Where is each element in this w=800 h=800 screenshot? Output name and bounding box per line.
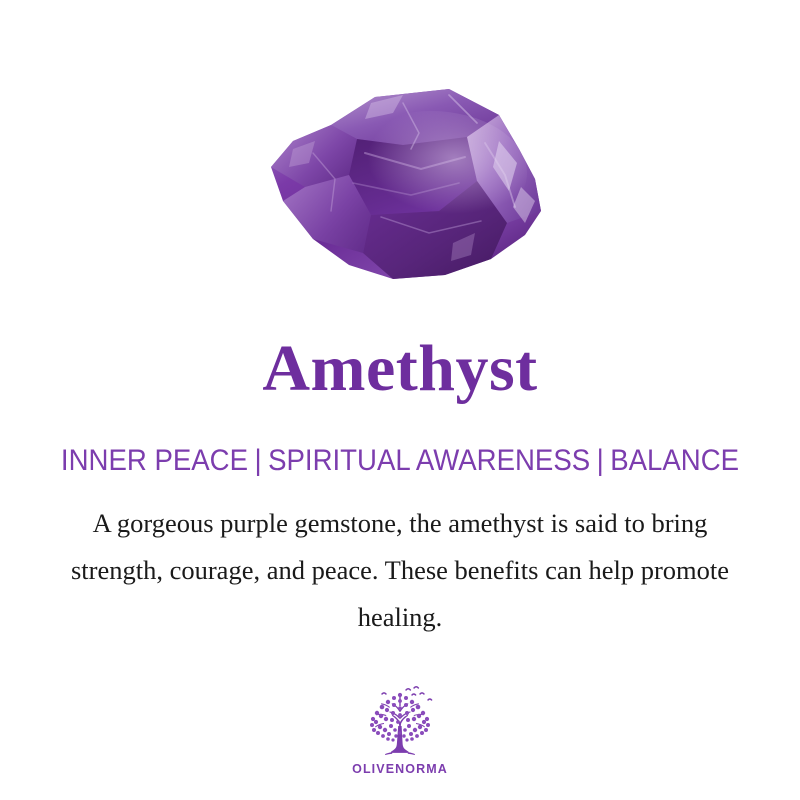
keyword-spiritual-awareness: SPIRITUAL AWARENESS xyxy=(268,442,590,480)
keyword-row: INNER PEACE|SPIRITUAL AWARENESS|BALANCE xyxy=(32,442,768,480)
tree-with-birds-icon xyxy=(362,686,438,760)
amethyst-crystal-icon xyxy=(253,83,549,291)
keyword-inner-peace: INNER PEACE xyxy=(61,442,248,480)
amethyst-stone-image xyxy=(253,83,549,291)
infographic-card: Amethyst INNER PEACE|SPIRITUAL AWARENESS… xyxy=(0,0,800,800)
brand-name-text: OLIVENORMA xyxy=(0,762,800,776)
gemstone-title: Amethyst xyxy=(0,333,800,405)
keyword-balance: BALANCE xyxy=(610,442,739,480)
brand-logo: OLIVENORMA xyxy=(0,686,800,776)
tree-foliage xyxy=(370,693,430,742)
gemstone-description: A gorgeous purple gemstone, the amethyst… xyxy=(60,500,740,641)
stone-inner-glow xyxy=(335,111,527,235)
hero-image-area xyxy=(0,55,800,305)
keyword-separator-1: | xyxy=(248,442,268,480)
keyword-separator-2: | xyxy=(590,442,610,480)
